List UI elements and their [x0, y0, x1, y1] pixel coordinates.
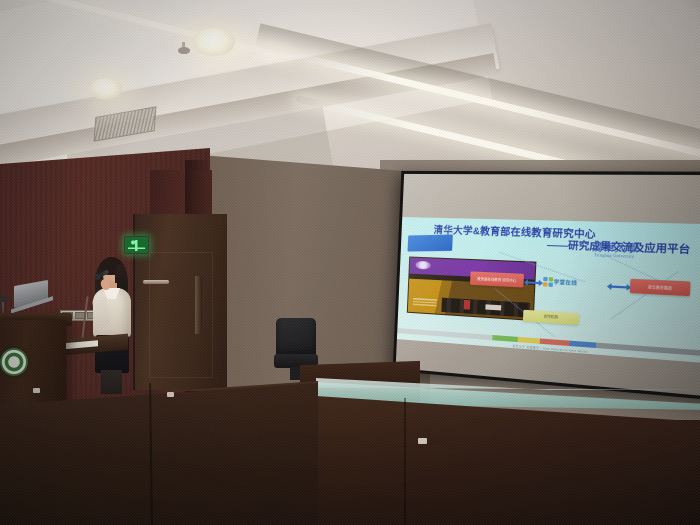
embedded-website-screenshot — [407, 256, 536, 320]
group-photo-placard — [485, 305, 502, 310]
desk-nameplate — [418, 438, 427, 444]
xuetangx-mark-icon — [542, 277, 552, 287]
website-logo-icon — [416, 261, 431, 269]
presenter — [84, 255, 140, 395]
diagram-node-center-label: 学堂在线 — [553, 279, 577, 288]
desk-right-seam — [404, 398, 406, 525]
emergency-exit-sign — [124, 236, 149, 254]
screen-surface: 学堂在线 清华大学&教育部在线教育研究中心 ——研究成果交流及应用平台 — [396, 174, 700, 398]
door-panel — [149, 252, 213, 378]
door-edge — [195, 276, 202, 334]
presentation-slide: 学堂在线 清华大学&教育部在线教育研究中心 ——研究成果交流及应用平台 — [397, 217, 700, 365]
website-caption-text — [413, 298, 437, 307]
diagram-arrow-right — [611, 285, 628, 288]
chair-backrest — [276, 318, 316, 358]
projection-screen: 学堂在线 清华大学&教育部在线教育研究中心 ——研究成果交流及应用平台 — [393, 171, 700, 401]
group-photo-figure — [464, 300, 471, 310]
desk-nameplate — [33, 388, 40, 393]
institution-emblem-icon — [0, 348, 28, 376]
presentation-photo-scene: 学堂在线 清华大学&教育部在线教育研究中心 ——研究成果交流及应用平台 — [0, 0, 700, 525]
presenter-legs — [101, 370, 122, 394]
slide-title: 清华大学&教育部在线教育研究中心 ——研究成果交流及应用平台 — [433, 225, 697, 257]
downlight-icon — [90, 78, 122, 100]
diagram-node-bottom: 合作机构 — [523, 310, 579, 325]
downlight-icon — [193, 28, 235, 56]
diagram-node-right: 慕华教育集团 — [630, 279, 691, 297]
sprinkler-icon — [178, 42, 190, 55]
diagram-node-center: 学堂在线 — [542, 275, 609, 293]
desk-nameplate — [167, 392, 174, 397]
running-man-icon — [128, 240, 145, 251]
desk-left — [0, 383, 318, 525]
chair-base — [290, 367, 300, 380]
door-handle[interactable] — [143, 280, 169, 284]
